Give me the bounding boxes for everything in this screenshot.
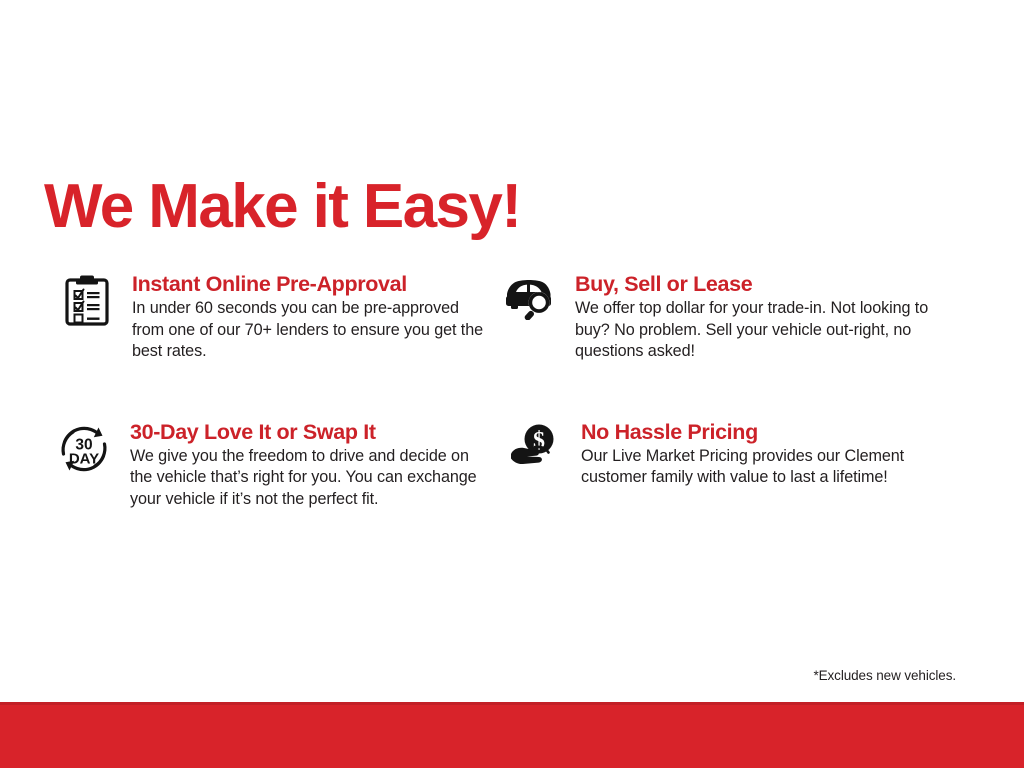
svg-text:$: $ <box>533 428 545 454</box>
feature-body: We give you the freedom to drive and dec… <box>130 446 495 511</box>
feature-title: Instant Online Pre-Approval <box>132 272 495 296</box>
slide-root: We Make it Easy! <box>0 0 1024 768</box>
thirty-day-cycle-icon: 30 DAY <box>52 420 116 478</box>
car-magnifier-icon <box>499 272 561 332</box>
feature-text: Buy, Sell or Lease We offer top dollar f… <box>561 272 965 363</box>
feature-body: We offer top dollar for your trade-in. N… <box>575 298 965 363</box>
feature-title: Buy, Sell or Lease <box>575 272 965 296</box>
hand-holding-dollar-icon: $ <box>503 420 567 478</box>
feature-grid: Instant Online Pre-Approval In under 60 … <box>0 272 1024 510</box>
feature-title: 30-Day Love It or Swap It <box>130 420 495 444</box>
feature-buy-sell-or-lease: Buy, Sell or Lease We offer top dollar f… <box>495 272 965 363</box>
feature-no-hassle-pricing: $ No Hassle Pricing Our Live Market Pric… <box>495 420 965 489</box>
clipboard-checklist-icon <box>56 272 118 332</box>
feature-30-day-love-it-or-swap-it: 30 DAY 30-Day Love It or Swap It We give… <box>0 420 495 511</box>
footnote-disclaimer: *Excludes new vehicles. <box>813 668 956 683</box>
feature-row: Instant Online Pre-Approval In under 60 … <box>0 272 1024 363</box>
feature-text: Instant Online Pre-Approval In under 60 … <box>118 272 495 363</box>
feature-body: Our Live Market Pricing provides our Cle… <box>581 446 965 489</box>
feature-text: 30-Day Love It or Swap It We give you th… <box>116 420 495 511</box>
feature-body: In under 60 seconds you can be pre-appro… <box>132 298 495 363</box>
feature-row: 30 DAY 30-Day Love It or Swap It We give… <box>0 420 1024 511</box>
feature-title: No Hassle Pricing <box>581 420 965 444</box>
feature-text: No Hassle Pricing Our Live Market Pricin… <box>567 420 965 489</box>
thirty-day-unit: DAY <box>69 450 99 467</box>
page-title: We Make it Easy! <box>44 176 520 238</box>
bottom-red-bar <box>0 702 1024 768</box>
bottom-bar-top-edge <box>0 702 1024 705</box>
feature-instant-online-pre-approval: Instant Online Pre-Approval In under 60 … <box>0 272 495 363</box>
